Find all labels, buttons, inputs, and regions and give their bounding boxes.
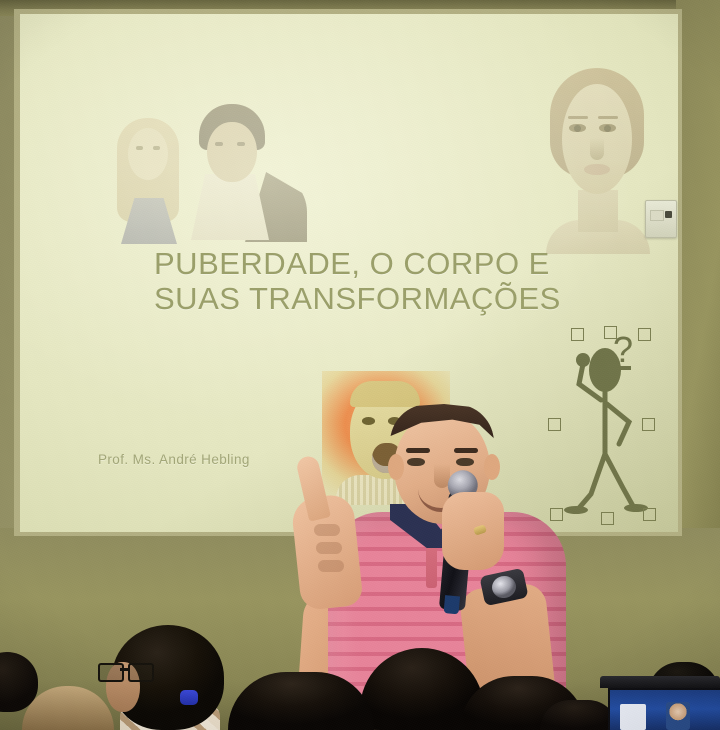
presenter-right-hand xyxy=(442,492,504,570)
girl-eye-right xyxy=(153,146,160,150)
laptop[interactable] xyxy=(600,676,720,730)
presenter-knuckle xyxy=(314,524,340,536)
eyeglass-lens-right xyxy=(128,663,154,682)
selection-handle[interactable] xyxy=(642,418,655,431)
presenter-brow-left xyxy=(406,448,430,453)
wall-right-panel xyxy=(676,0,720,560)
blue-hair-tie xyxy=(180,690,198,705)
switch-indicator-icon xyxy=(665,211,672,218)
portrait-lips xyxy=(584,164,610,175)
selection-handle[interactable] xyxy=(643,508,656,521)
portrait-pupil-left xyxy=(574,125,581,132)
eyeglass-bridge xyxy=(120,668,128,671)
slide-title: PUBERDADE, O CORPO E SUAS TRANSFORMAÇÕES xyxy=(154,246,574,316)
eyeglass-lens-left xyxy=(98,663,124,682)
light-switch-plate[interactable] xyxy=(645,200,677,238)
woman-portrait-photo xyxy=(538,68,656,248)
presenter-brow-right xyxy=(454,448,478,453)
portrait-brow-left xyxy=(568,116,588,119)
teen-couple-photo xyxy=(95,100,307,240)
selection-handle[interactable] xyxy=(571,328,584,341)
presenter-ear-right xyxy=(484,454,500,480)
laptop-screen-icon xyxy=(620,704,646,730)
laptop-screen[interactable] xyxy=(608,688,720,730)
boy-eye-left xyxy=(215,142,223,146)
girl-eye-left xyxy=(136,146,143,150)
microphone-base xyxy=(444,595,461,614)
portrait-neck xyxy=(578,190,618,232)
presenter-ear-left xyxy=(388,454,404,480)
boy-face xyxy=(207,122,257,182)
laptop-lid xyxy=(600,676,720,688)
presenter-eye-right xyxy=(456,458,474,466)
presenter-knuckle xyxy=(316,542,342,554)
presenter-knuckle xyxy=(318,560,344,572)
portrait-pupil-right xyxy=(604,125,611,132)
boy-shirt xyxy=(191,174,269,240)
portrait-nose xyxy=(590,138,604,160)
slide-credit: Prof. Ms. André Hebling xyxy=(98,452,250,467)
presenter-eye-left xyxy=(407,458,425,466)
boy-eye-right xyxy=(237,142,245,146)
laptop-screen-avatar xyxy=(666,702,690,730)
girl-face xyxy=(128,128,168,180)
selection-handle[interactable] xyxy=(604,326,617,339)
wristwatch-face xyxy=(490,574,518,601)
portrait-brow-right xyxy=(598,116,618,119)
switch-rocker-icon[interactable] xyxy=(650,210,664,221)
photograph-scene: ? PUBERDADE, O CORPO E SUAS TRANSFORMAÇÕ… xyxy=(0,0,720,730)
selection-handle[interactable] xyxy=(638,328,651,341)
eyeglasses-icon xyxy=(98,663,150,679)
